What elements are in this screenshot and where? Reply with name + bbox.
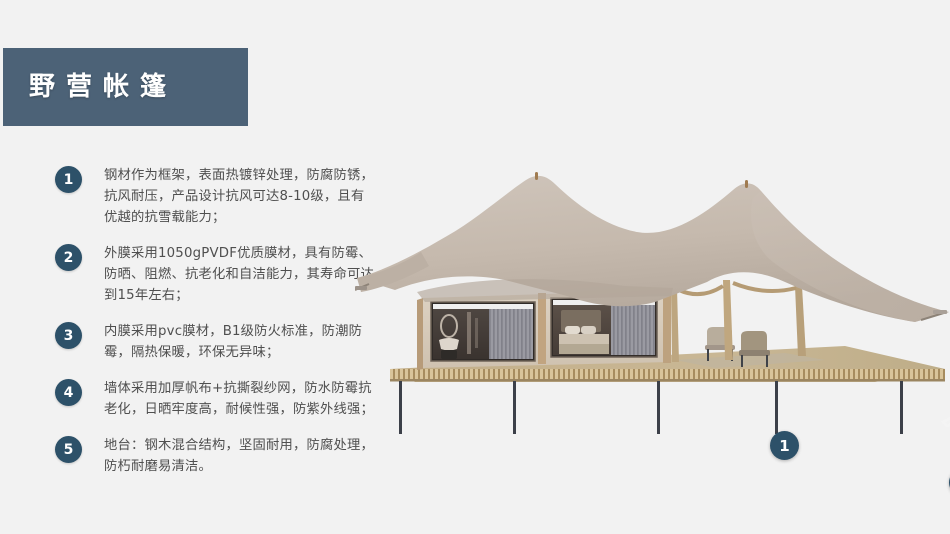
- feature-badge-4: 4: [55, 379, 82, 406]
- cabin-corner-post: [417, 298, 423, 370]
- list-item: 5 地台：钢木混合结构，坚固耐用，防腐处理，防朽耐磨易清洁。: [55, 435, 375, 477]
- deck-leg: [900, 381, 903, 434]
- feature-text-1: 钢材作为框架，表面热镀锌处理，防腐防锈，抗风耐压，产品设计抗风可达8-10级，且…: [104, 165, 375, 228]
- cabin-right-post: [663, 290, 671, 363]
- tent-peak-tip: [535, 172, 538, 180]
- tent-peak-tip: [745, 180, 748, 188]
- tent-illustration: 雪洲营房 SNOW TENT HOUSE 1 2 3 4 5: [355, 150, 950, 460]
- window-blind-left: [433, 304, 533, 309]
- terrace-post: [795, 286, 806, 356]
- page-title: 野营帐篷: [29, 74, 177, 100]
- feature-badge-3: 3: [55, 322, 82, 349]
- canopy-right-panel: [751, 191, 949, 322]
- feature-list: 1 钢材作为框架，表面热镀锌处理，防腐防锈，抗风耐压，产品设计抗风可达8-10级…: [55, 165, 375, 492]
- feature-text-5: 地台：钢木混合结构，坚固耐用，防腐处理，防朽耐磨易清洁。: [104, 435, 375, 477]
- post-brace: [733, 283, 796, 291]
- feature-badge-1: 1: [55, 166, 82, 193]
- tent-badge-1[interactable]: 1: [770, 431, 799, 460]
- list-item: 4 墙体采用加厚帆布+抗撕裂纱网，防水防霉抗老化，日晒牢度高，耐候性强，防紫外线…: [55, 378, 375, 420]
- slide-canvas: 野营帐篷 1 钢材作为框架，表面热镀锌处理，防腐防锈，抗风耐压，产品设计抗风可达…: [0, 0, 950, 534]
- window-curtain-right: [611, 305, 655, 355]
- window-left: [431, 302, 535, 361]
- deck-leg: [399, 381, 402, 434]
- terrace-post: [671, 288, 679, 362]
- deck-fascia: [390, 369, 945, 380]
- deck-leg: [775, 381, 778, 434]
- title-block: 野营帐篷: [3, 48, 248, 126]
- deck-fascia-shadow: [390, 379, 945, 382]
- guy-anchor: [355, 286, 367, 290]
- window-curtain-left: [489, 309, 533, 359]
- feature-text-3: 内膜采用pvc膜材，B1级防火标准，防潮防霉，隔热保暖，环保无异味；: [104, 321, 375, 363]
- tent-graphic: [355, 150, 950, 460]
- window-right: [551, 298, 657, 357]
- list-item: 2 外膜采用1050gPVDF优质膜材，具有防霉、防晒、阻燃、抗老化和自洁能力，…: [55, 243, 375, 306]
- list-item: 3 内膜采用pvc膜材，B1级防火标准，防潮防霉，隔热保暖，环保无异味；: [55, 321, 375, 363]
- cabin-center-post: [538, 293, 546, 364]
- deck-leg: [513, 381, 516, 434]
- feature-badge-2: 2: [55, 244, 82, 271]
- guy-anchor: [933, 310, 947, 314]
- feature-text-2: 外膜采用1050gPVDF优质膜材，具有防霉、防晒、阻燃、抗老化和自洁能力，其寿…: [104, 243, 375, 306]
- feature-badge-5: 5: [55, 436, 82, 463]
- feature-text-4: 墙体采用加厚帆布+抗撕裂纱网，防水防霉抗老化，日晒牢度高，耐候性强，防紫外线强；: [104, 378, 375, 420]
- deck-leg: [657, 381, 660, 434]
- list-item: 1 钢材作为框架，表面热镀锌处理，防腐防锈，抗风耐压，产品设计抗风可达8-10级…: [55, 165, 375, 228]
